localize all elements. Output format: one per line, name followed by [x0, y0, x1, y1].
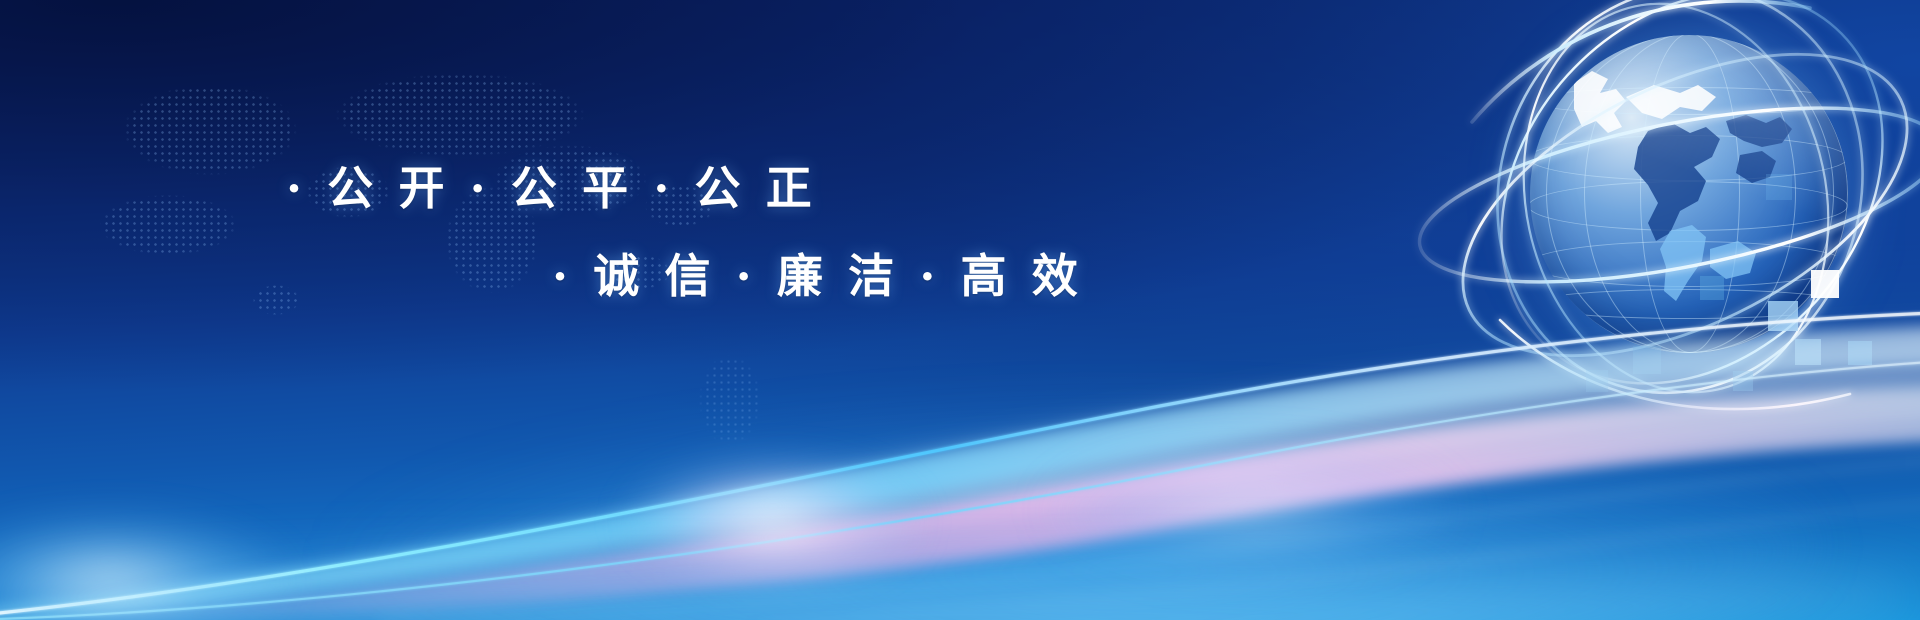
- light-wave-streaks: [0, 290, 1920, 620]
- slogan-line-2: · 诚 信 · 廉 洁 · 高 效: [552, 240, 1082, 306]
- square-faint: [1766, 174, 1792, 200]
- slogan-line-1: · 公 开 · 公 平 · 公 正: [286, 152, 816, 218]
- banner-canvas: · 公 开 · 公 平 · 公 正 · 诚 信 · 廉 洁 · 高 效: [0, 0, 1920, 620]
- slogan-block: · 公 开 · 公 平 · 公 正 · 诚 信 · 廉 洁 · 高 效: [0, 0, 1100, 330]
